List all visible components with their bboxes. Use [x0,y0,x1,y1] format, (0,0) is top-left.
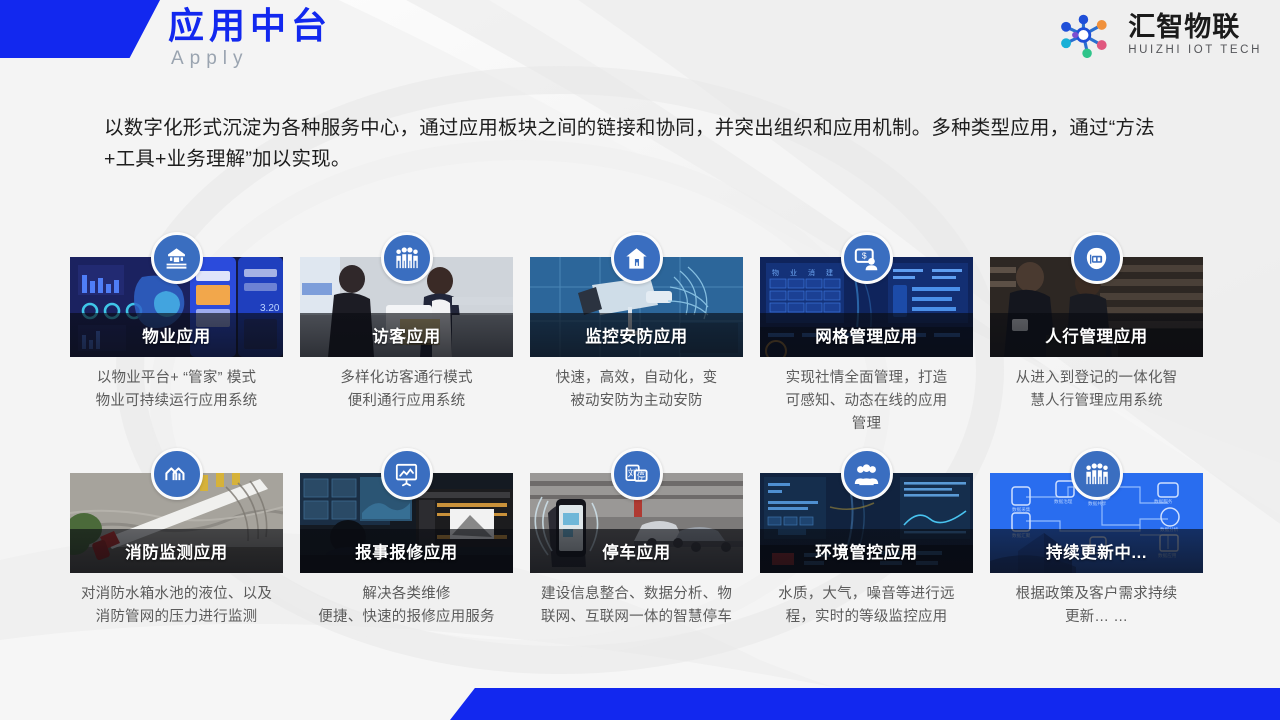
intro-paragraph: 以数字化形式沉淀为各种服务中心，通过应用板块之间的链接和协同，并突出组织和应用机… [104,113,1164,175]
app-card-visitor[interactable]: 访客应用 多样化访客通行模式 便利通行应用系统 [300,232,513,436]
caption-line: 物业可持续运行应用系统 [70,390,283,413]
caption-line: 被动安防为主动安防 [530,390,743,413]
card-title: 持续更新中... [1046,539,1147,563]
card-title-band: 访客应用 [300,313,513,357]
caption-line: 程，实时的等级监控应用 [760,606,973,629]
home-security-icon [611,232,663,284]
caption-line: 可感知、动态在线的应用 [760,390,973,413]
house-community-icon [151,232,203,284]
card-row-1: 3.20 物业应用 以物业平台+ “管家” 模式 物业可持续运行应用系统 [70,232,1212,436]
people-group-icon [381,232,433,284]
app-card-grid-management[interactable]: $ 物业消建 [760,232,973,436]
people-trio-icon [841,448,893,500]
caption-line: 解决各类维修 [300,583,513,606]
card-title-band: 网格管理应用 [760,313,973,357]
card-title: 停车应用 [602,539,670,563]
caption-line: 建设信息整合、数据分析、物 [530,583,743,606]
caption-line: 更新… … [990,606,1203,629]
app-card-coming-soon[interactable]: 数据采集数据汇聚 数据治理数据共享 数据服务数据分析 数据应用 持续更新中...… [990,448,1203,629]
svg-text:数据治理: 数据治理 [1054,498,1073,505]
app-card-fire-monitoring[interactable]: 消防监测应用 对消防水箱水池的液位、以及 消防管网的压力进行监测 [70,448,283,629]
card-title: 报事报修应用 [355,539,458,563]
app-card-surveillance[interactable]: 监控安防应用 快速，高效，自动化，变 被动安防为主动安防 [530,232,743,436]
card-title: 物业应用 [142,323,210,347]
card-title-band: 停车应用 [530,529,743,573]
caption-line: 管理 [760,413,973,436]
caption-line: 从进入到登记的一体化智 [990,367,1203,390]
face-recognition-icon [1071,232,1123,284]
payment-person-icon: $ [841,232,893,284]
bottom-accent-bar [450,688,1280,720]
logo-name-en: HUIZHI IOT TECH [1128,43,1262,58]
molecule-network-icon [1056,12,1120,58]
card-caption: 解决各类维修 便捷、快速的报修应用服务 [300,583,513,629]
card-title-band: 持续更新中... [990,529,1203,573]
svg-text:数据服务: 数据服务 [1154,498,1173,505]
card-caption: 快速，高效，自动化，变 被动安防为主动安防 [530,367,743,413]
card-caption: 建设信息整合、数据分析、物 联网、互联网一体的智慧停车 [530,583,743,629]
card-title-band: 监控安防应用 [530,313,743,357]
card-caption: 实现社情全面管理，打造 可感知、动态在线的应用 管理 [760,367,973,436]
caption-line: 便捷、快速的报修应用服务 [300,606,513,629]
water-spray-icon [151,448,203,500]
card-title-band: 报事报修应用 [300,529,513,573]
chart-board-icon [381,448,433,500]
caption-line: 慧人行管理应用系统 [990,390,1203,413]
card-title-band: 消防监测应用 [70,529,283,573]
brand-logo: 汇智物联 HUIZHI IOT TECH [1056,12,1262,58]
card-caption: 水质，大气，噪音等进行远 程，实时的等级监控应用 [760,583,973,629]
people-group-icon [1071,448,1123,500]
page-header: 应用中台 Apply 汇智物联 HUIZHI IOT TECH [0,0,1280,82]
caption-line: 以物业平台+ “管家” 模式 [70,367,283,390]
app-card-property[interactable]: 3.20 物业应用 以物业平台+ “管家” 模式 物业可持续运行应用系统 [70,232,283,436]
mobile-parking-icon: 刘停 [611,448,663,500]
card-title: 网格管理应用 [815,323,918,347]
app-card-repair-report[interactable]: 报事报修应用 解决各类维修 便捷、快速的报修应用服务 [300,448,513,629]
caption-line: 联网、互联网一体的智慧停车 [530,606,743,629]
page-subtitle: Apply [171,48,332,70]
caption-line: 根据政策及客户需求持续 [990,583,1203,606]
card-title-band: 物业应用 [70,313,283,357]
card-caption: 对消防水箱水池的液位、以及 消防管网的压力进行监测 [70,583,283,629]
card-title: 消防监测应用 [125,539,228,563]
card-title: 监控安防应用 [585,323,688,347]
caption-line: 对消防水箱水池的液位、以及 [70,583,283,606]
application-card-grid: 3.20 物业应用 以物业平台+ “管家” 模式 物业可持续运行应用系统 [70,232,1212,629]
card-caption: 从进入到登记的一体化智 慧人行管理应用系统 [990,367,1203,413]
svg-text:建: 建 [826,268,833,277]
title-block: 应用中台 Apply [168,6,332,70]
card-row-2: 消防监测应用 对消防水箱水池的液位、以及 消防管网的压力进行监测 [70,448,1212,629]
app-card-environment[interactable]: 环境管控应用 水质，大气，噪音等进行远 程，实时的等级监控应用 [760,448,973,629]
card-caption: 以物业平台+ “管家” 模式 物业可持续运行应用系统 [70,367,283,413]
card-caption: 根据政策及客户需求持续 更新… … [990,583,1203,629]
caption-line: 快速，高效，自动化，变 [530,367,743,390]
logo-name-cn: 汇智物联 [1128,13,1262,42]
svg-text:业: 业 [790,268,797,277]
card-title: 访客应用 [372,323,440,347]
svg-text:停: 停 [637,470,645,480]
card-title: 环境管控应用 [815,539,918,563]
svg-text:数据共享: 数据共享 [1088,500,1107,507]
card-caption: 多样化访客通行模式 便利通行应用系统 [300,367,513,413]
caption-line: 水质，大气，噪音等进行远 [760,583,973,606]
caption-line: 消防管网的压力进行监测 [70,606,283,629]
caption-line: 实现社情全面管理，打造 [760,367,973,390]
svg-text:数据采集: 数据采集 [1012,506,1031,513]
card-title: 人行管理应用 [1045,323,1148,347]
caption-line: 多样化访客通行模式 [300,367,513,390]
logo-text-block: 汇智物联 HUIZHI IOT TECH [1128,13,1262,58]
svg-text:消: 消 [808,268,815,277]
svg-text:$: $ [862,250,867,260]
app-card-parking[interactable]: 刘停 [530,448,743,629]
card-title-band: 人行管理应用 [990,313,1203,357]
page-title: 应用中台 [168,6,332,46]
svg-text:物: 物 [772,268,779,277]
caption-line: 便利通行应用系统 [300,390,513,413]
app-card-pedestrian[interactable]: 人行管理应用 从进入到登记的一体化智 慧人行管理应用系统 [990,232,1203,436]
card-title-band: 环境管控应用 [760,529,973,573]
